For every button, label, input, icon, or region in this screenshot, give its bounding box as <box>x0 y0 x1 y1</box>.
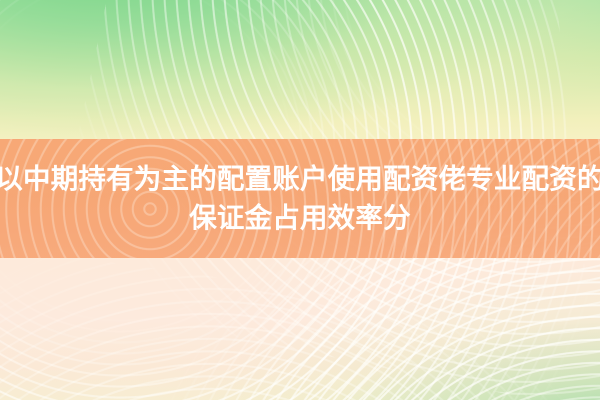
promo-banner: 以中期持有为主的配置账户使用配资佬专业配资的 保证金占用效率分 <box>0 0 600 400</box>
headline-line-2: 保证金占用效率分 <box>189 200 411 236</box>
headline-line-1: 以中期持有为主的配置账户使用配资佬专业配资的 <box>0 161 600 197</box>
headline-text: 以中期持有为主的配置账户使用配资佬专业配资的 保证金占用效率分 <box>0 139 600 258</box>
headline-band: 以中期持有为主的配置账户使用配资佬专业配资的 保证金占用效率分 <box>0 139 600 258</box>
